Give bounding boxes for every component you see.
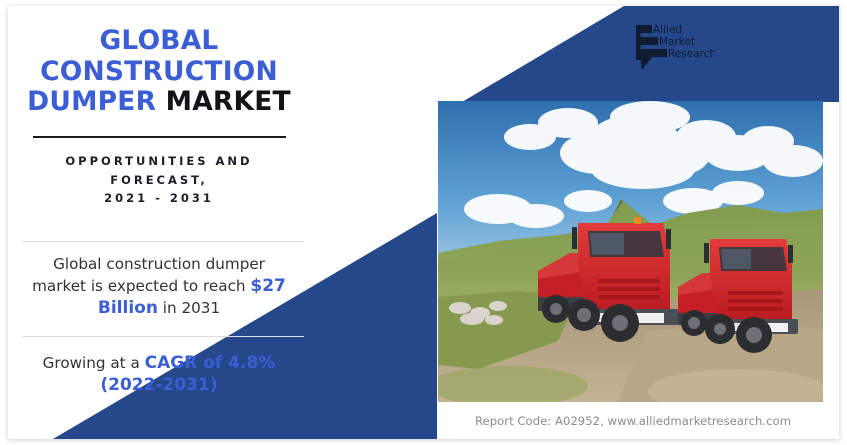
title-word-dumper: DUMPER [27, 86, 156, 117]
market-value-statement: Global construction dumper market is exp… [28, 255, 290, 319]
report-code-text: Report Code: A02952, www.alliedmarketres… [475, 414, 791, 428]
dump-truck-photo [438, 101, 823, 402]
footer: Report Code: A02952, www.alliedmarketres… [438, 410, 828, 432]
market-value-suffix: in 2031 [158, 299, 220, 317]
logo-line-2: Market [659, 36, 695, 48]
allied-market-research-logo[interactable]: Allied Market Research [634, 22, 714, 72]
stat-divider-top [22, 241, 304, 242]
market-value-prefix: Global construction dumper market is exp… [32, 255, 265, 295]
subtitle-line-3: 2021 - 2031 [26, 189, 292, 208]
infographic-card: Allied Market Research GLOBALCONSTRUCTIO… [8, 6, 839, 439]
title-divider [33, 136, 286, 138]
title-word-market: MARKET [166, 86, 291, 117]
page-title: GLOBALCONSTRUCTIONDUMPER MARKET [20, 26, 298, 118]
stat-divider-bottom [22, 336, 304, 337]
subtitle-line-1: OPPORTUNITIES AND [26, 152, 292, 171]
subtitle-line-2: FORECAST, [26, 171, 292, 190]
logo-line-3: Research [668, 48, 714, 60]
cagr-prefix: Growing at a [43, 354, 145, 372]
cagr-statement: Growing at a CAGR of 4.8% (2022-2031) [26, 352, 292, 396]
title-word-construction: CONSTRUCTION [40, 56, 278, 87]
logo-line-1: Allied [653, 24, 682, 36]
title-word-global: GLOBAL [99, 25, 218, 56]
left-content-column: GLOBALCONSTRUCTIONDUMPER MARKET OPPORTUN… [20, 16, 298, 396]
subtitle: OPPORTUNITIES AND FORECAST, 2021 - 2031 [26, 152, 292, 208]
